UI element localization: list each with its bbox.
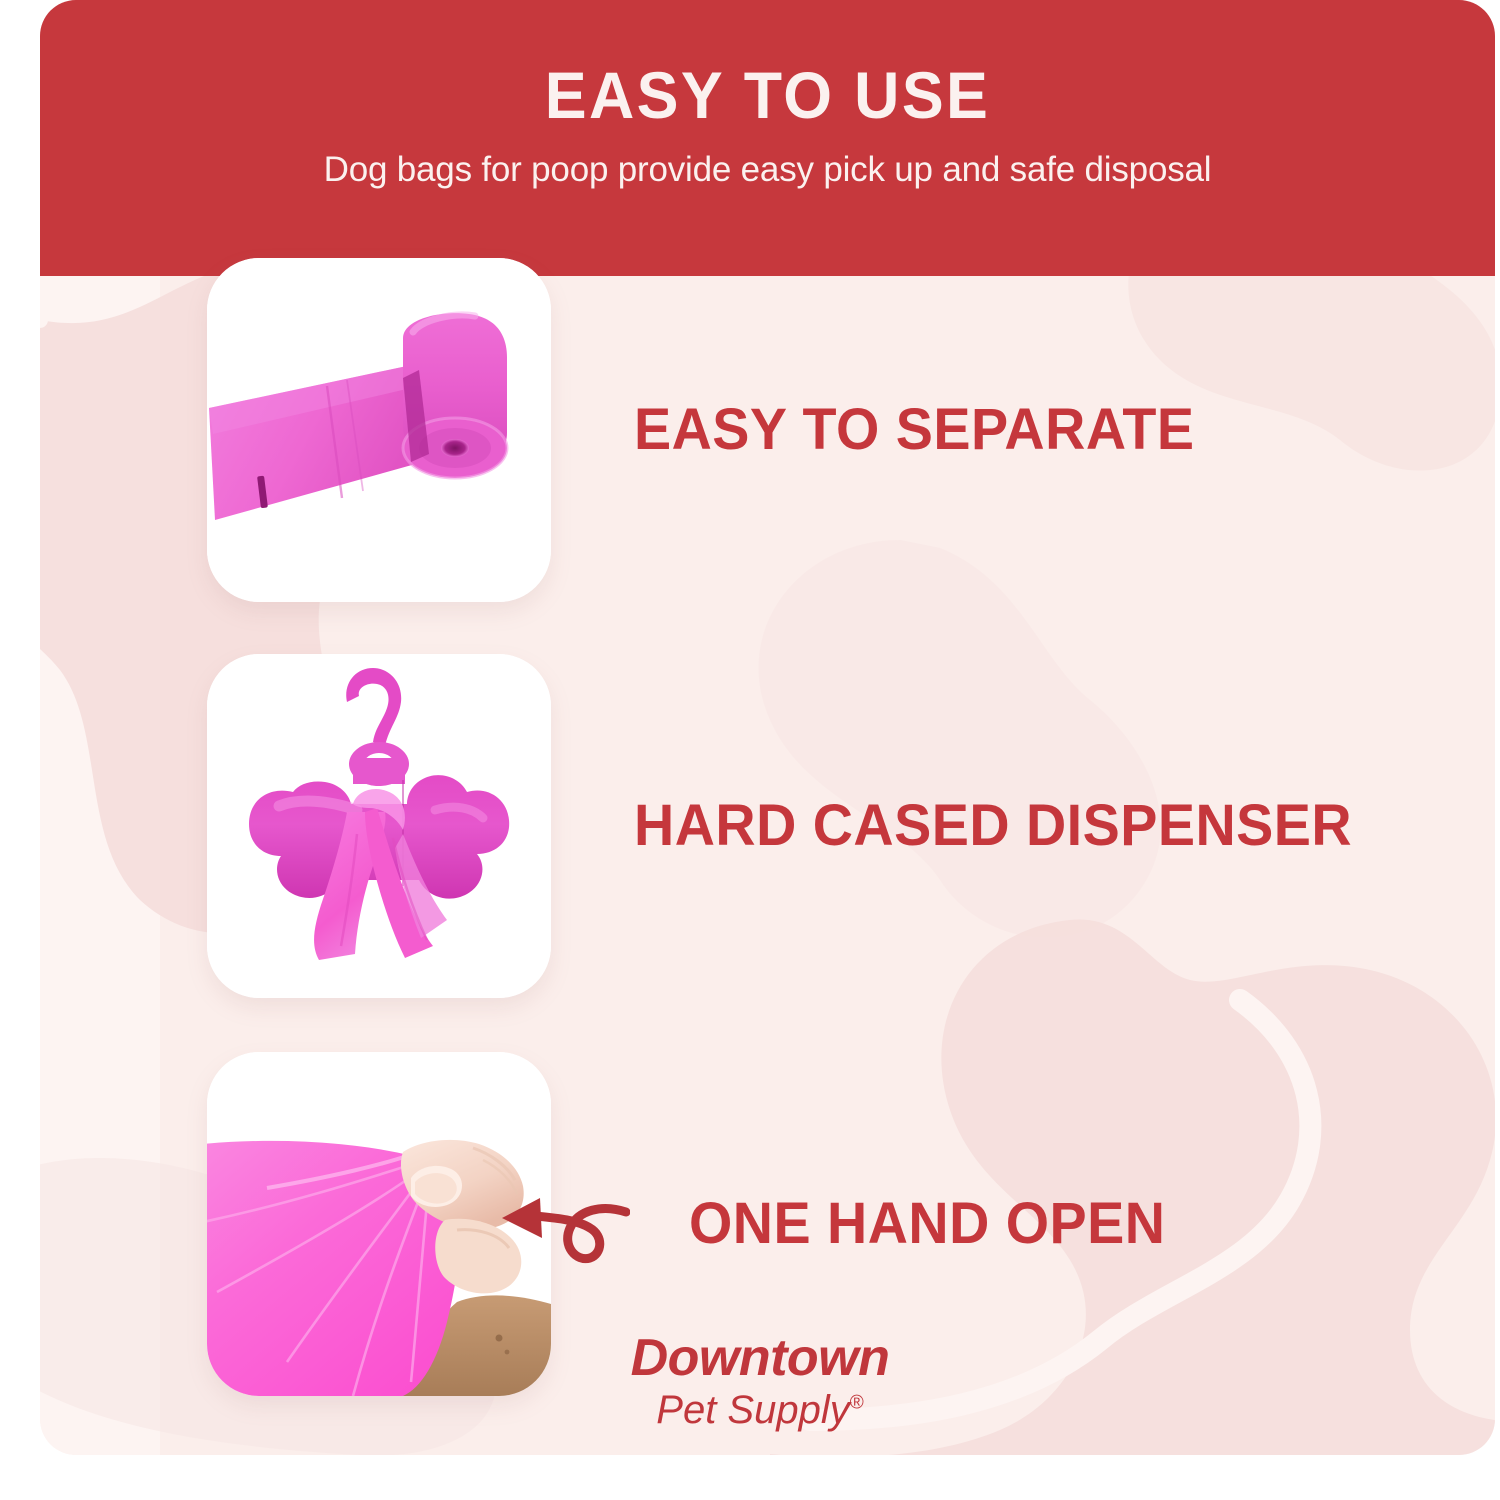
registered-trademark-mark: ® <box>850 1393 864 1414</box>
infographic-page: EASY TO USE Dog bags for poop provide ea… <box>0 0 1500 1500</box>
bone-shaped-dispenser-photo <box>207 654 551 998</box>
header-banner: EASY TO USE Dog bags for poop provide ea… <box>40 0 1495 276</box>
logo-pet-supply-text: Pet Supply <box>656 1388 849 1432</box>
hand-opening-bag-photo <box>207 1052 551 1396</box>
feature-label-easy-to-separate: EASY TO SEPARATE <box>634 401 1194 459</box>
brand-logo: Downtown Pet Supply® <box>560 1332 960 1430</box>
logo-line-downtown: Downtown <box>560 1332 960 1384</box>
logo-line-pet-supply: Pet Supply® <box>560 1390 960 1430</box>
feature-row-easy-to-separate: EASY TO SEPARATE <box>0 252 1500 608</box>
page-subtitle: Dog bags for poop provide easy pick up a… <box>40 128 1495 190</box>
feature-row-hard-cased-dispenser: HARD CASED DISPENSER <box>0 648 1500 1004</box>
feature-label-one-hand-open: ONE HAND OPEN <box>689 1195 1165 1253</box>
feature-label-hard-cased-dispenser: HARD CASED DISPENSER <box>634 797 1352 855</box>
pink-bag-roll-photo <box>207 258 551 602</box>
page-title: EASY TO USE <box>76 0 1458 128</box>
